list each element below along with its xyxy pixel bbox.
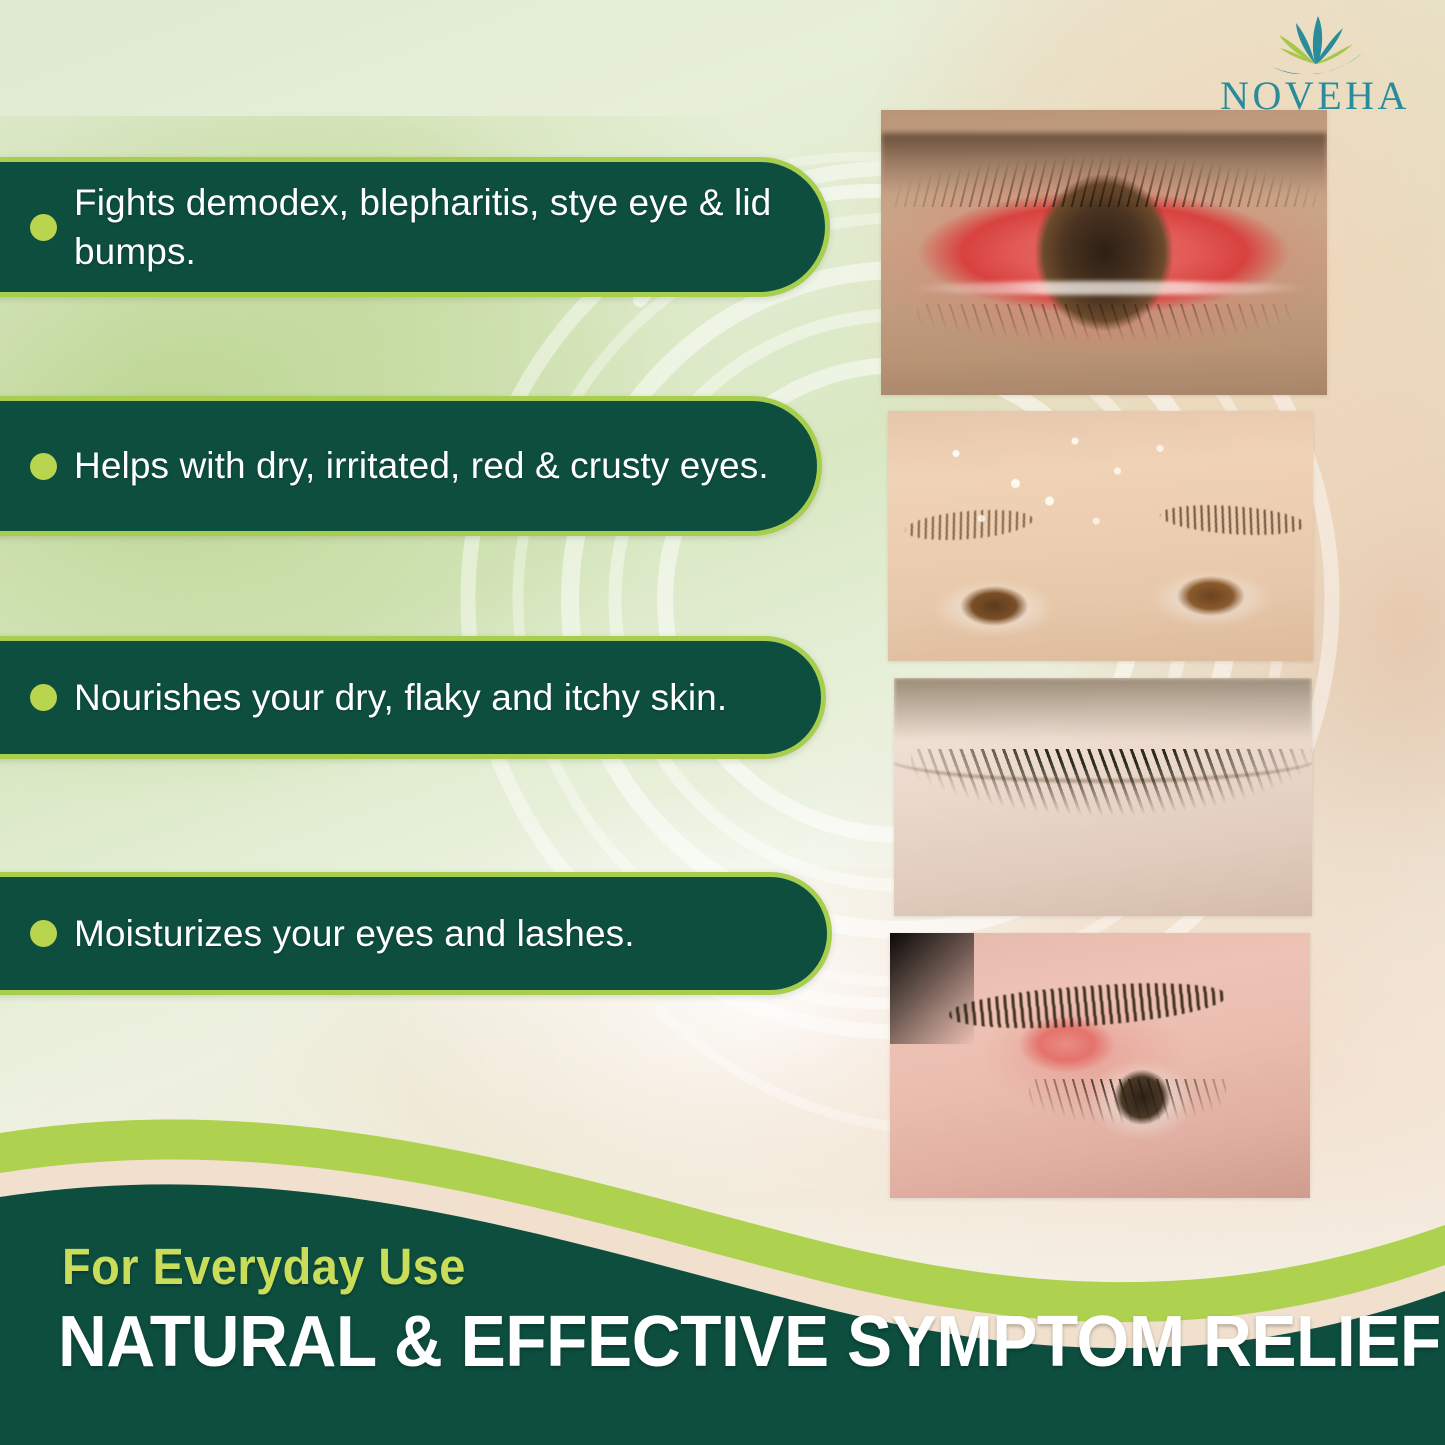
photo-eyelid-lashes-image [894,678,1312,916]
benefit-pill-4: Moisturizes your eyes and lashes. [0,872,832,995]
upper-lash-texture [890,150,1318,207]
benefit-pill-3: Nourishes your dry, flaky and itchy skin… [0,636,826,759]
bullet-dot-icon [30,684,57,711]
banner-eyebrow: For Everyday Use [62,1237,466,1296]
leaf-fan-icon [1215,12,1415,74]
benefit-text-2: Helps with dry, irritated, red & crusty … [74,441,803,490]
bottom-banner-section: For Everyday Use NATURAL & EFFECTIVE SYM… [0,1045,1445,1445]
benefit-text-1: Fights demodex, blepharitis, stye eye & … [74,178,825,276]
brand-logo: NOVEHA [1215,12,1415,116]
benefit-text-4: Moisturizes your eyes and lashes. [74,909,669,958]
benefit-pill-1: Fights demodex, blepharitis, stye eye & … [0,157,830,297]
symptom-photo-flaky-skin [888,411,1313,661]
bullet-dot-icon [30,920,57,947]
brand-name: NOVEHA [1215,76,1415,116]
symptom-photo-red-eye [881,110,1327,395]
bullet-dot-icon [30,453,57,480]
bullet-dot-icon [30,214,57,241]
symptom-photo-eyelid-lashes [894,678,1312,916]
banner-headline: NATURAL & EFFECTIVE SYMPTOM RELIEF [58,1301,1441,1383]
eyelash-texture [911,749,1312,820]
product-infographic-poster: Fights demodex, blepharitis, stye eye & … [0,0,1445,1445]
photo-flaky-skin-image [888,411,1313,661]
photo-red-eye-image [881,110,1327,395]
eyebrow-texture [948,976,1227,1035]
benefit-pill-2: Helps with dry, irritated, red & crusty … [0,396,822,536]
banner-text-block: For Everyday Use NATURAL & EFFECTIVE SYM… [0,1215,1445,1445]
benefit-text-3: Nourishes your dry, flaky and itchy skin… [74,673,761,722]
lower-lash-texture [917,304,1292,350]
skin-flake-specks [888,411,1313,661]
